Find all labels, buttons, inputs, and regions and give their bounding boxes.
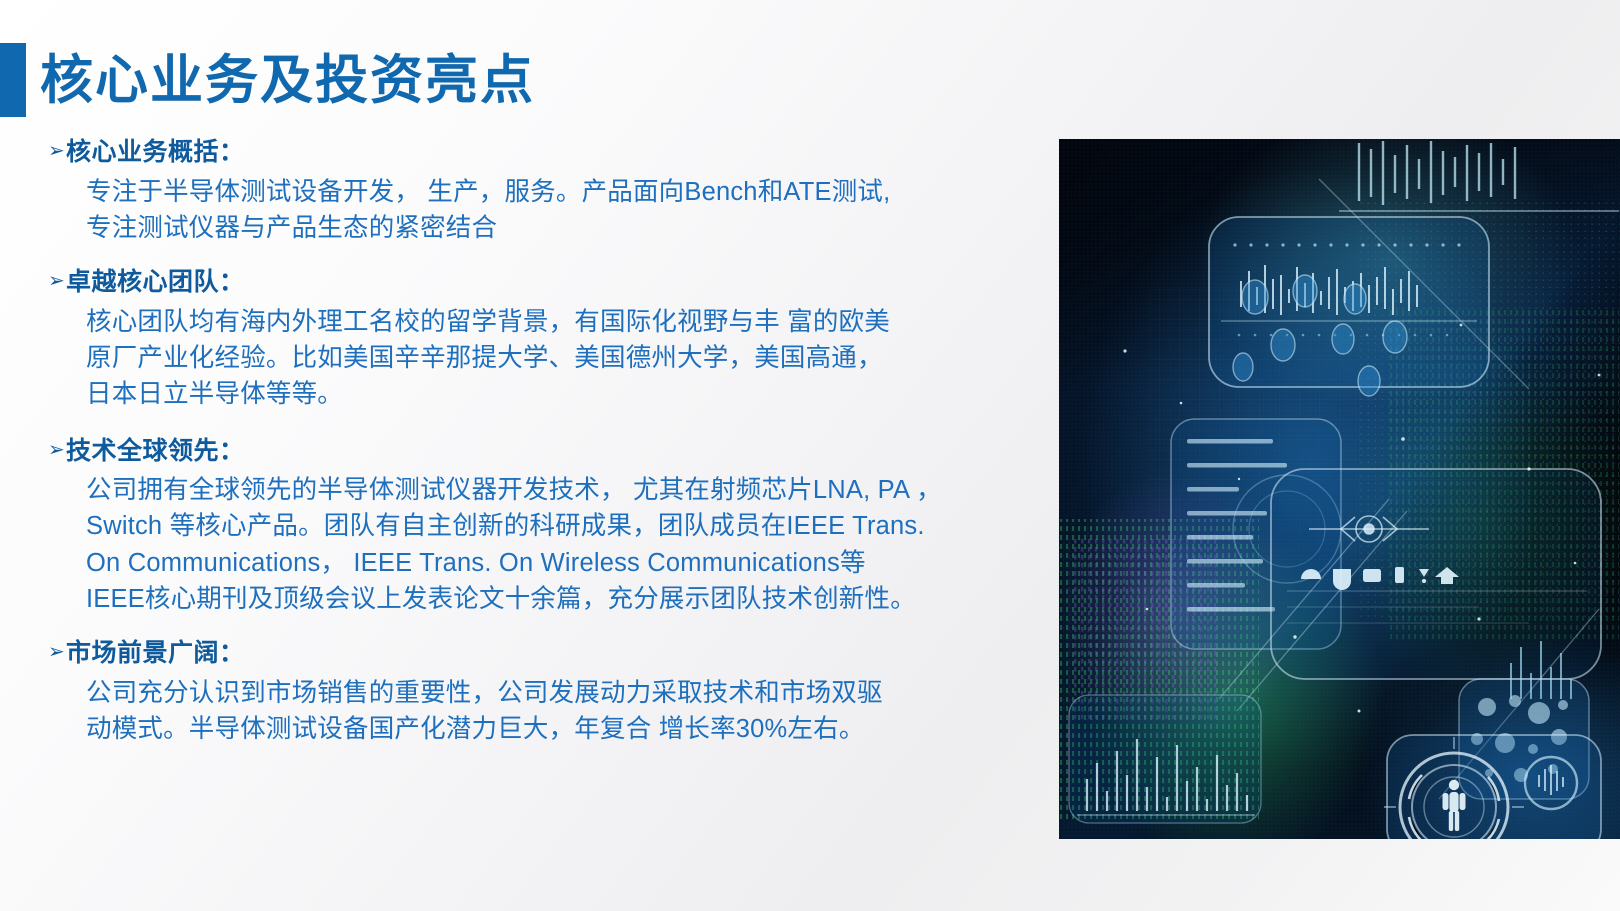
body-line: 原厂产业化经验。比如美国辛辛那提大学、美国德州大学，美国高通，	[86, 340, 1048, 376]
section-core-business: ➢ 核心业务概括： 专注于半导体测试设备开发， 生产，服务。产品面向Bench和…	[48, 136, 1048, 246]
body-line: 公司充分认识到市场销售的重要性，公司发展动力采取技术和市场双驱	[86, 675, 1048, 711]
body-line: 日本日立半导体等等。	[86, 376, 1048, 412]
page-title: 核心业务及投资亮点	[0, 40, 535, 120]
section-technology-leadership: ➢ 技术全球领先： 公司拥有全球领先的半导体测试仪器开发技术， 尤其在射频芯片L…	[48, 435, 1048, 618]
content-column: ➢ 核心业务概括： 专注于半导体测试设备开发， 生产，服务。产品面向Bench和…	[48, 136, 1048, 747]
arrow-bullet-icon: ➢	[48, 266, 66, 297]
section-heading-label: 技术全球领先：	[66, 435, 245, 469]
section-heading: ➢ 技术全球领先：	[48, 435, 1048, 469]
arrow-bullet-icon: ➢	[48, 637, 66, 668]
section-heading: ➢ 市场前景广阔：	[48, 637, 1048, 671]
slide-root: 核心业务及投资亮点 ➢ 核心业务概括： 专注于半导体测试设备开发， 生产，服务。…	[0, 0, 1620, 911]
body-line: IEEE核心期刊及顶级会议上发表论文十余篇，充分展示团队技术创新性。	[86, 581, 1048, 617]
section-heading-label: 市场前景广阔：	[66, 637, 245, 671]
section-heading: ➢ 核心业务概括：	[48, 136, 1048, 170]
body-line: 核心团队均有海内外理工名校的留学背景，有国际化视野与丰 富的欧美	[86, 304, 1048, 340]
section-heading: ➢ 卓越核心团队：	[48, 266, 1048, 300]
section-body: 专注于半导体测试设备开发， 生产，服务。产品面向Bench和ATE测试, 专注测…	[86, 174, 1048, 246]
body-line: 专注测试仪器与产品生态的紧密结合	[86, 210, 1048, 246]
arrow-bullet-icon: ➢	[48, 136, 66, 167]
title-label: 核心业务及投资亮点	[40, 54, 535, 107]
technology-hud-image	[1059, 139, 1620, 839]
section-body: 核心团队均有海内外理工名校的留学背景，有国际化视野与丰 富的欧美 原厂产业化经验…	[86, 304, 1048, 413]
body-line: Switch 等核心产品。团队有自主创新的科研成果，团队成员在IEEE Tran…	[86, 508, 1048, 544]
body-line: 专注于半导体测试设备开发， 生产，服务。产品面向Bench和ATE测试,	[86, 174, 1048, 210]
title-accent-bar	[0, 43, 26, 117]
section-heading-label: 卓越核心团队：	[66, 266, 245, 300]
body-line: 动模式。半导体测试设备国产化潜力巨大，年复合 增长率30%左右。	[86, 711, 1048, 747]
section-heading-label: 核心业务概括：	[66, 136, 245, 170]
section-market-outlook: ➢ 市场前景广阔： 公司充分认识到市场销售的重要性，公司发展动力采取技术和市场双…	[48, 637, 1048, 747]
section-body: 公司拥有全球领先的半导体测试仪器开发技术， 尤其在射频芯片LNA, PA ， S…	[86, 472, 1048, 617]
body-line: On Communications， IEEE Trans. On Wirele…	[86, 545, 1048, 581]
section-core-team: ➢ 卓越核心团队： 核心团队均有海内外理工名校的留学背景，有国际化视野与丰 富的…	[48, 266, 1048, 412]
arrow-bullet-icon: ➢	[48, 435, 66, 466]
section-body: 公司充分认识到市场销售的重要性，公司发展动力采取技术和市场双驱 动模式。半导体测…	[86, 675, 1048, 747]
body-line: 公司拥有全球领先的半导体测试仪器开发技术， 尤其在射频芯片LNA, PA ，	[86, 472, 1048, 508]
